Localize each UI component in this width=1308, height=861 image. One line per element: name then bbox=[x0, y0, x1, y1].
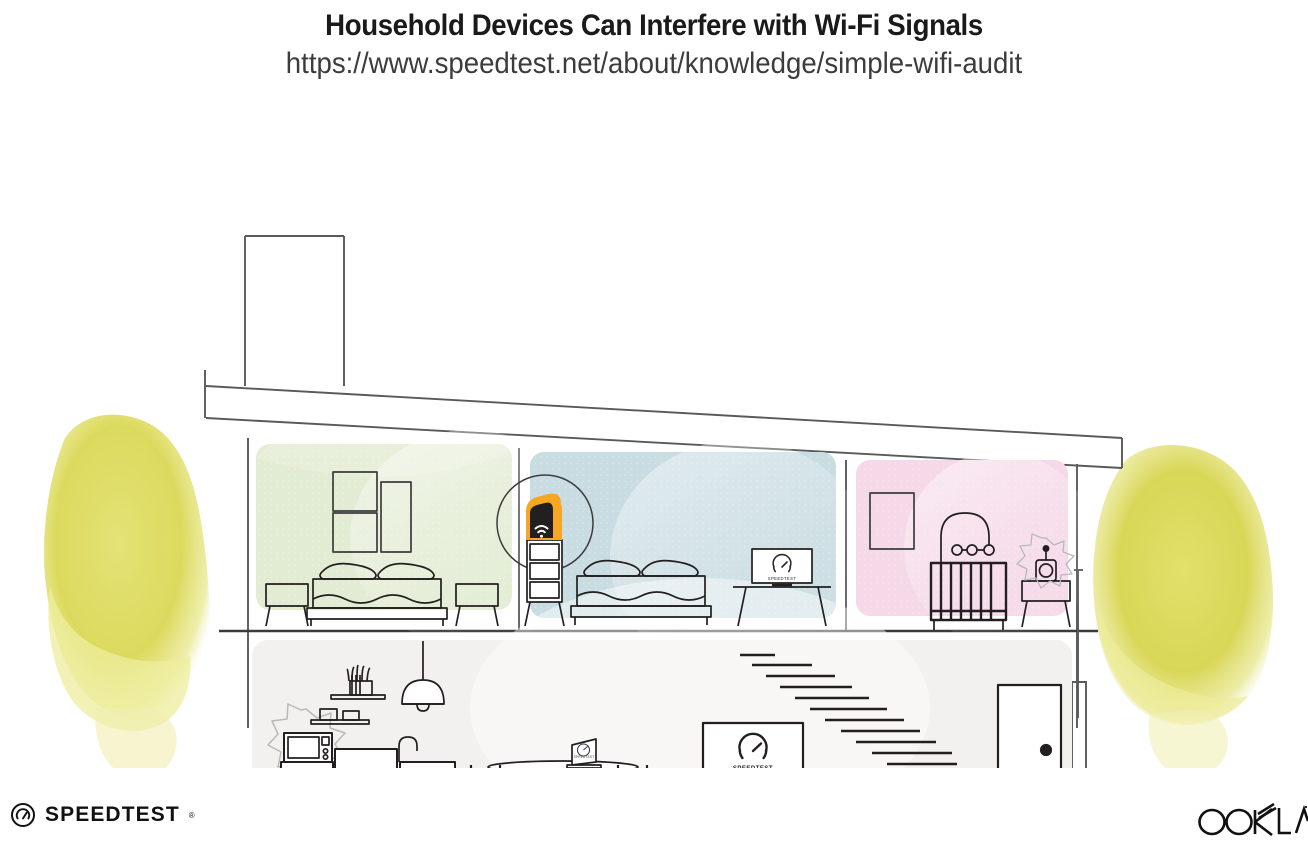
house-illustration: SPEEDTEST SPEEDTEST SPEEDTEST bbox=[0, 108, 1308, 768]
screen-wordmark-monitor: SPEEDTEST bbox=[768, 576, 797, 581]
speedtest-gauge-on-tv: SPEEDTEST bbox=[733, 734, 773, 768]
speedometer-icon bbox=[10, 802, 36, 828]
speedtest-wordmark: SPEEDTEST bbox=[45, 803, 180, 827]
ookla-logo bbox=[1196, 798, 1308, 844]
screen-wordmark-laptop: SPEEDTEST bbox=[574, 755, 595, 759]
speedtest-gauge-on-laptop: SPEEDTEST bbox=[574, 755, 595, 759]
speedtest-trademark: ® bbox=[189, 811, 195, 820]
page-title: Household Devices Can Interfere with Wi-… bbox=[52, 9, 1255, 43]
speedtest-brand: SPEEDTEST ® bbox=[10, 802, 195, 828]
infographic-page: Household Devices Can Interfere with Wi-… bbox=[0, 0, 1308, 861]
speedtest-gauge-on-monitor: SPEEDTEST bbox=[768, 555, 797, 581]
source-url: https://www.speedtest.net/about/knowledg… bbox=[52, 47, 1255, 81]
footer: SPEEDTEST ® bbox=[0, 790, 1308, 850]
screen-logos-layer: SPEEDTEST SPEEDTEST SPEEDTEST bbox=[0, 108, 1308, 768]
screen-wordmark-tv: SPEEDTEST bbox=[733, 766, 773, 768]
header: Household Devices Can Interfere with Wi-… bbox=[0, 0, 1308, 81]
